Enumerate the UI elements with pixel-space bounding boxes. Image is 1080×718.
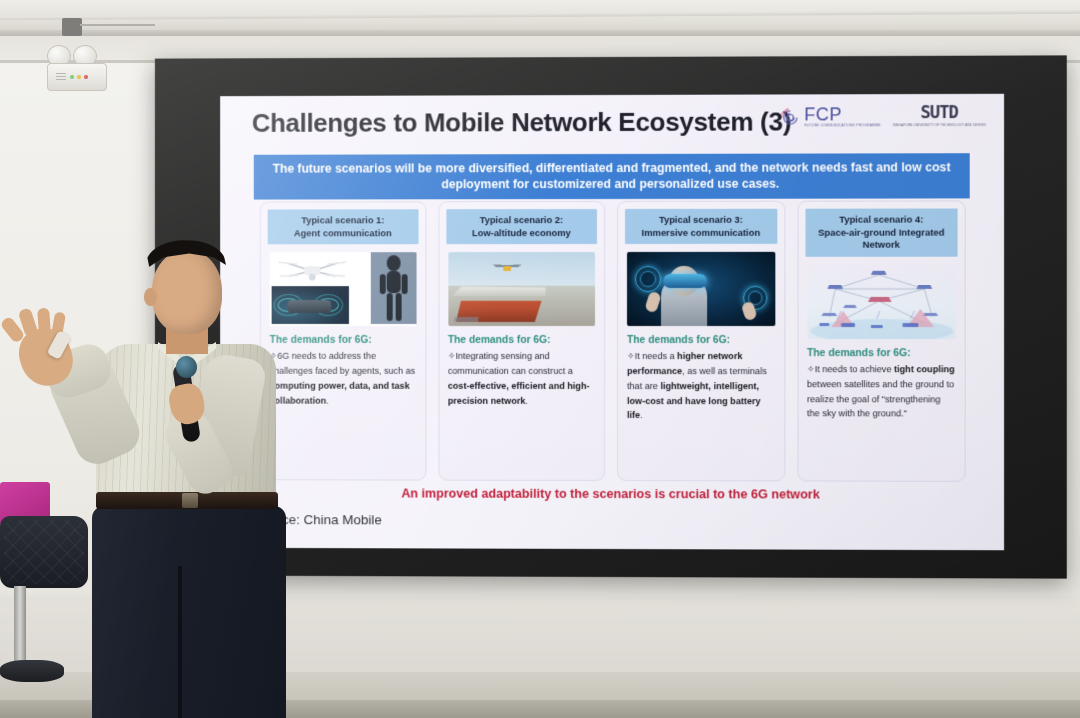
sutd-logo-subtitle: SINGAPORE UNIVERSITY OF TECHNOLOGY AND D… xyxy=(893,124,986,127)
scenario-card-text: It needs a higher network performance, a… xyxy=(627,351,767,420)
demands-label: The demands for 6G: xyxy=(627,335,775,346)
scenario-card-body: ✧It needs to achieve tight coupling betw… xyxy=(807,362,956,421)
page-title: Challenges to Mobile Network Ecosystem (… xyxy=(252,106,851,139)
belt-buckle xyxy=(182,493,198,508)
presenter-trousers xyxy=(92,506,286,718)
scenario-card-header: Typical scenario 2:Low-altitude economy xyxy=(446,209,597,245)
scenario-card-header: Typical scenario 4:Space-air-ground Inte… xyxy=(805,208,958,256)
scenario-card-header: Typical scenario 3:Immersive communicati… xyxy=(625,209,777,245)
emergency-light-icon xyxy=(47,45,117,93)
presenter-ear xyxy=(144,288,157,306)
scenario-card: Typical scenario 3:Immersive communicati… xyxy=(617,201,785,482)
sutd-logo-mark: SUTD xyxy=(893,105,986,122)
presenter-head xyxy=(152,250,222,334)
sutd-logo: SUTD SINGAPORE UNIVERSITY OF TECHNOLOGY … xyxy=(893,105,986,128)
demands-label: The demands for 6G: xyxy=(448,335,595,346)
scenario-card: Typical scenario 4:Space-air-ground Inte… xyxy=(797,200,966,481)
vr-headset-user-image xyxy=(627,252,775,326)
presenter xyxy=(0,236,300,718)
bullet-icon: ✧ xyxy=(448,351,456,361)
scenario-card-text: Integrating sensing and communication ca… xyxy=(448,351,590,405)
logo-group: FCP FUTURE COMMUNICATIONS PROGRAMME SUTD… xyxy=(779,105,986,128)
slide-tagline: An improved adaptability to the scenario… xyxy=(220,486,1004,502)
presentation-slide: Challenges to Mobile Network Ecosystem (… xyxy=(220,94,1004,550)
drone-over-vessel-image xyxy=(448,252,595,326)
swirl-icon xyxy=(779,106,801,128)
satellite-network-diagram-image xyxy=(807,265,956,339)
finger xyxy=(37,308,51,336)
bullet-icon: ✧ xyxy=(627,351,635,361)
scenario-card-body: ✧It needs a higher network performance, … xyxy=(627,349,775,423)
bullet-icon: ✧ xyxy=(807,364,815,374)
scenario-card-list: Typical scenario 1:Agent communication xyxy=(260,200,966,481)
demands-label: The demands for 6G: xyxy=(807,348,956,359)
fcp-logo-mark: FCP xyxy=(804,105,880,123)
slide-banner: The future scenarios will be more divers… xyxy=(254,153,970,200)
rail-wire xyxy=(80,24,155,26)
trouser-seam xyxy=(178,566,182,718)
fcp-logo-subtitle: FUTURE COMMUNICATIONS PROGRAMME xyxy=(804,124,880,128)
rail-bracket xyxy=(62,18,82,36)
scenario-card-text: It needs to achieve tight coupling betwe… xyxy=(807,364,955,418)
scenario-card: Typical scenario 2:Low-altitude economy … xyxy=(438,201,605,481)
lecture-room: Challenges to Mobile Network Ecosystem (… xyxy=(0,0,1080,718)
fcp-logo: FCP FUTURE COMMUNICATIONS PROGRAMME xyxy=(779,105,880,128)
scenario-card-body: ✧Integrating sensing and communication c… xyxy=(448,349,595,408)
